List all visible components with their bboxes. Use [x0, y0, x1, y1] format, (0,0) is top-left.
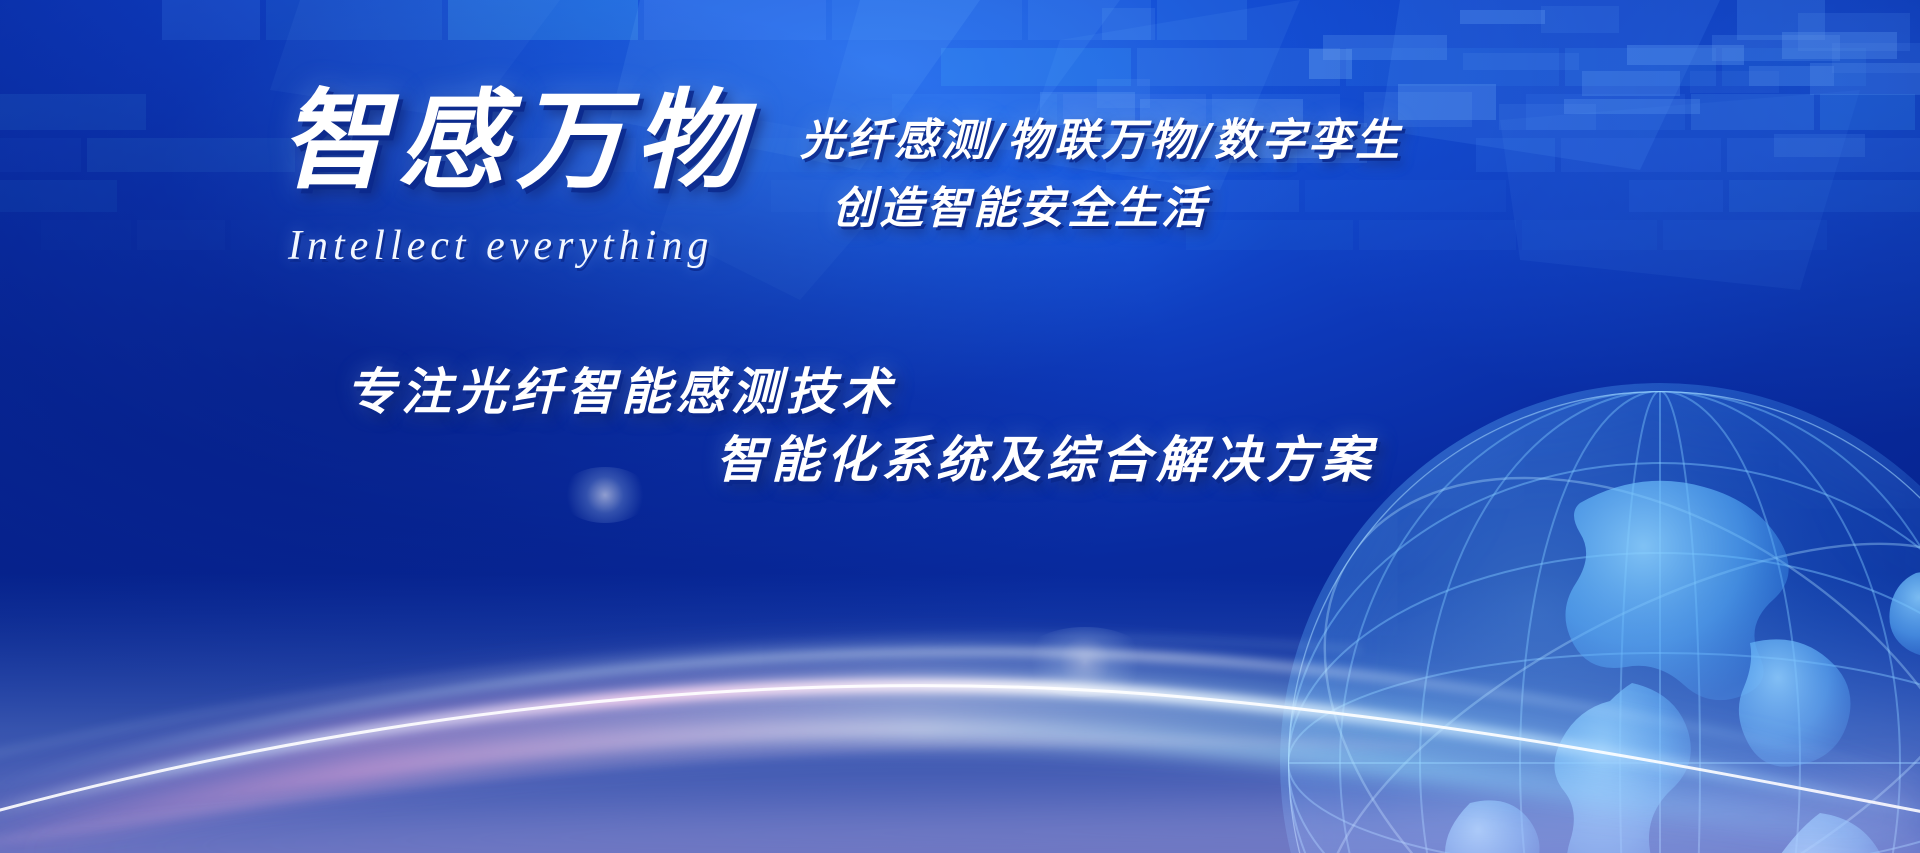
grid-block	[137, 220, 225, 250]
grid-block	[1522, 220, 1657, 250]
grid-block	[941, 48, 1131, 86]
grid-block	[644, 0, 826, 40]
page-subtitle-english: Intellect everything	[288, 222, 713, 270]
grid-block-highlight	[1499, 104, 1596, 131]
slogan-line-1: 光纤感测/物联万物/数字孪生	[800, 104, 1402, 168]
grid-block	[0, 180, 117, 212]
grid-block	[1186, 220, 1353, 250]
lens-flare-icon	[560, 467, 650, 523]
grid-block-highlight	[1323, 35, 1446, 60]
grid-block	[162, 0, 260, 40]
grid-block-highlight	[1541, 6, 1619, 34]
grid-block	[266, 0, 442, 40]
grid-block	[1028, 0, 1151, 40]
grid-block	[1727, 138, 1920, 172]
grid-block-highlight	[1782, 32, 1897, 58]
grid-block	[1737, 0, 1825, 40]
lens-flare-small-icon	[1020, 627, 1150, 697]
grid-block	[448, 0, 638, 40]
grid-block	[1137, 48, 1340, 86]
grid-block	[1691, 94, 1814, 130]
banner-root: 智感万物 Intellect everything 光纤感测/物联万物/数字孪生…	[0, 0, 1920, 853]
grid-block	[0, 94, 146, 130]
grid-block-highlight	[1582, 71, 1680, 97]
grid-block-highlight	[1102, 8, 1155, 40]
grid-block-highlight	[1460, 10, 1546, 25]
grid-block-highlight	[1810, 63, 1920, 96]
grid-block-highlight	[1749, 66, 1834, 86]
page-title: 智感万物	[280, 88, 752, 196]
grid-block-highlight	[1564, 99, 1700, 115]
facet-shape	[1500, 90, 1860, 290]
grid-block	[1157, 0, 1247, 40]
tagline-line-1: 专注光纤智能感测技术	[346, 352, 896, 424]
grid-block	[1629, 180, 1723, 212]
grid-block	[1359, 220, 1516, 250]
grid-block	[1722, 48, 1866, 86]
grid-block	[1346, 48, 1559, 86]
grid-block-highlight	[1463, 53, 1579, 70]
grid-block	[41, 220, 131, 250]
grid-block	[1820, 94, 1915, 130]
grid-block	[1663, 220, 1827, 250]
grid-block	[87, 138, 295, 172]
tagline-line-2: 智能化系统及综合解决方案	[716, 420, 1376, 492]
slogan-line-2: 创造智能安全生活	[832, 172, 1208, 236]
grid-block-highlight	[1798, 13, 1911, 51]
grid-block	[1305, 180, 1506, 212]
grid-block-highlight	[1627, 45, 1745, 66]
grid-block-highlight	[1832, 43, 1920, 73]
grid-block	[1565, 48, 1716, 86]
grid-block	[1526, 94, 1685, 130]
facet-shape	[1380, 0, 1720, 170]
grid-block	[0, 138, 81, 172]
grid-block	[1561, 138, 1721, 172]
grid-block-highlight	[1309, 49, 1352, 79]
grid-block	[1729, 180, 1920, 212]
grid-block	[832, 0, 1022, 40]
grid-block-highlight	[1690, 71, 1778, 93]
grid-block-highlight	[1712, 35, 1839, 61]
grid-block	[1476, 138, 1555, 172]
grid-block-highlight	[1398, 84, 1496, 120]
grid-block-highlight	[1774, 134, 1865, 157]
